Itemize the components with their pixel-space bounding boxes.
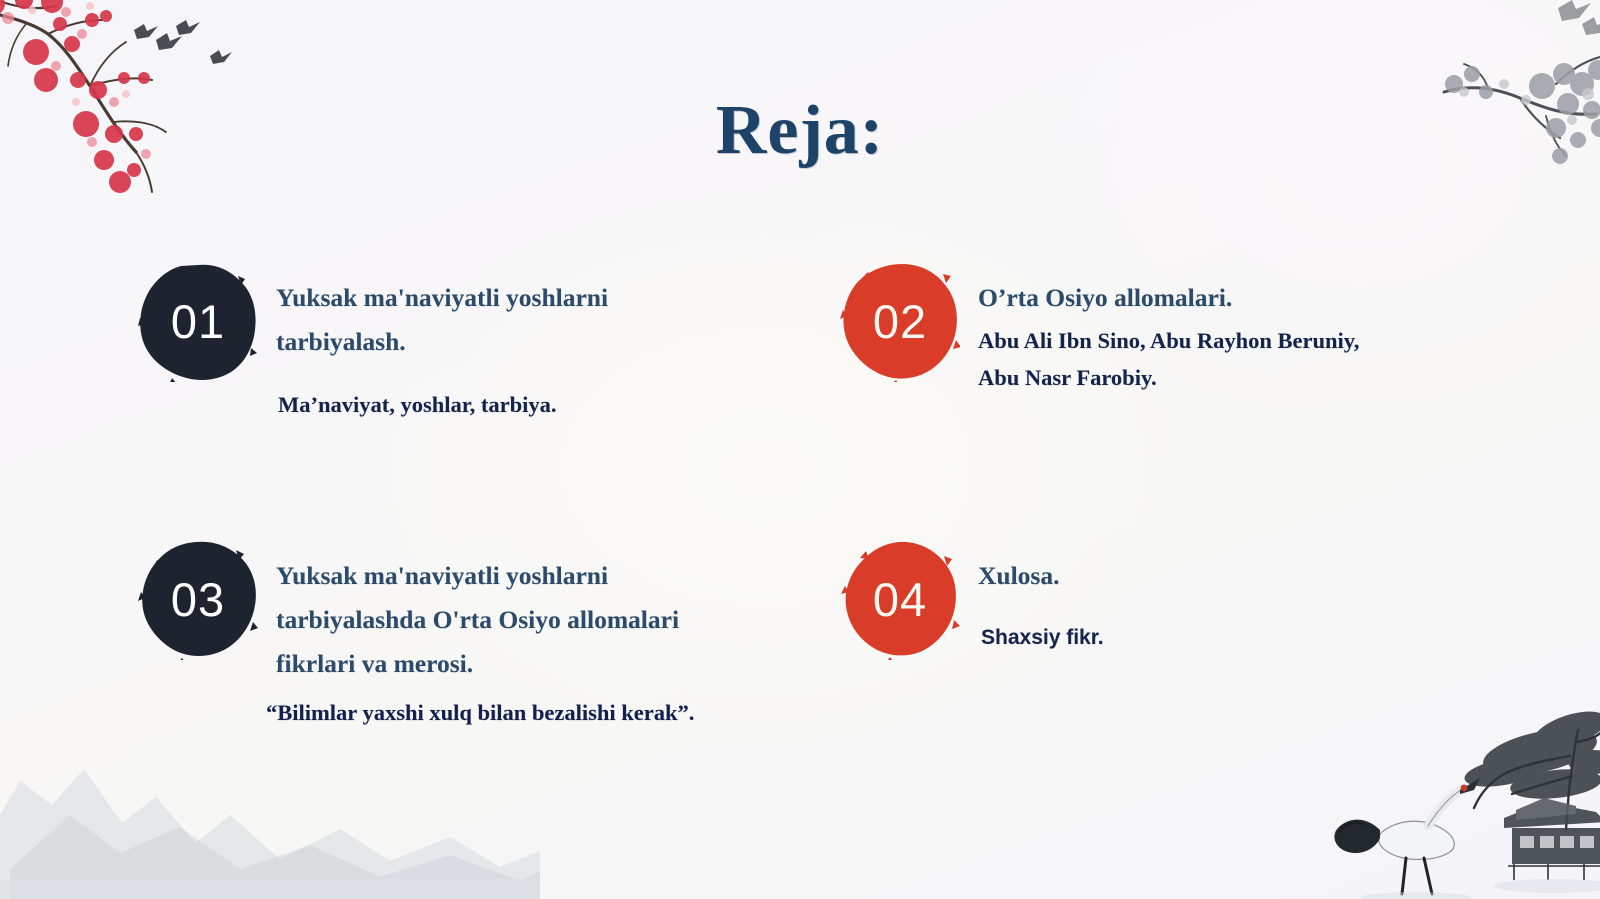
agenda-item-04-heading: Xulosa.	[978, 554, 1104, 598]
agenda-item-01-heading: Yuksak ma'naviyatli yoshlarni tarbiyalas…	[276, 276, 608, 364]
agenda-item-03-texts: Yuksak ma'naviyatli yoshlarni tarbiyalas…	[258, 540, 679, 686]
badge-02: 02	[840, 262, 960, 382]
agenda-item-02-heading: O’rta Osiyo allomalari.	[978, 276, 1359, 320]
agenda-item-04-texts: Xulosa. Shaxsiy fikr.	[960, 540, 1104, 656]
badge-number-02: 02	[840, 262, 960, 382]
agenda-item-03[interactable]: 03 Yuksak ma'naviyatli yoshlarni tarbiya…	[138, 540, 778, 686]
ink-wash-mountains-icon	[0, 719, 540, 899]
agenda-item-01-subline: Ma’naviyat, yoshlar, tarbiya.	[278, 386, 608, 423]
badge-number-04: 04	[840, 540, 960, 660]
agenda-item-04[interactable]: 04 Xulosa. Shaxsiy fikr.	[840, 540, 1400, 660]
badge-number-03: 03	[138, 540, 258, 660]
agenda-item-04-subline: Shaxsiy fikr.	[981, 621, 1104, 656]
badge-03: 03	[138, 540, 258, 660]
agenda-item-02-subline: Abu Ali Ibn Sino, Abu Rayhon Beruniy, Ab…	[978, 322, 1359, 396]
quote-text: “Bilimlar yaxshi xulq bilan bezalishi ke…	[266, 700, 694, 726]
agenda-item-02[interactable]: 02 O’rta Osiyo allomalari. Abu Ali Ibn S…	[840, 262, 1460, 396]
badge-04: 04	[840, 540, 960, 660]
agenda-item-01-texts: Yuksak ma'naviyatli yoshlarni tarbiyalas…	[258, 262, 608, 423]
agenda-item-02-texts: O’rta Osiyo allomalari. Abu Ali Ibn Sino…	[960, 262, 1359, 396]
badge-01: 01	[138, 262, 258, 382]
ink-wash-crane-pine-pavilion-icon	[1308, 690, 1600, 899]
agenda-item-03-heading: Yuksak ma'naviyatli yoshlarni tarbiyalas…	[276, 554, 679, 686]
slide-title: Reja:	[0, 96, 1600, 166]
agenda-item-01[interactable]: 01 Yuksak ma'naviyatli yoshlarni tarbiya…	[138, 262, 738, 423]
badge-number-01: 01	[138, 262, 258, 382]
slide-canvas: Reja: 01 Yuksak ma'naviyatli yoshlarni t…	[0, 0, 1600, 899]
